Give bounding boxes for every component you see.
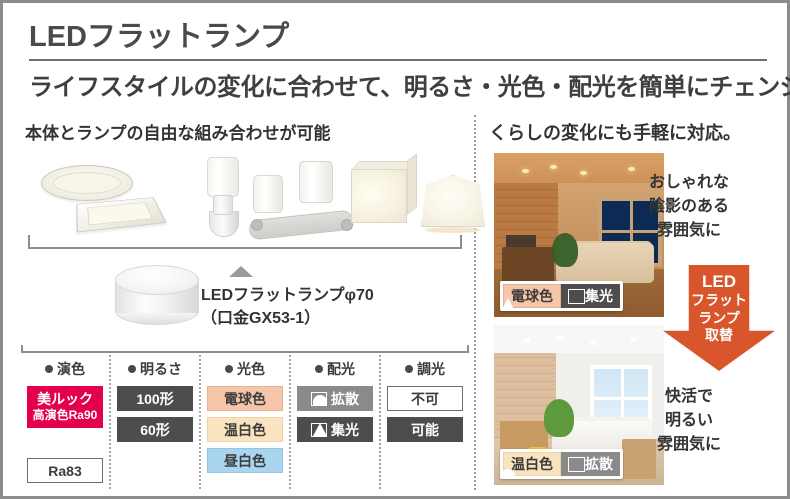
right-section-heading: くらしの変化にも手軽に対応。 [489,119,741,145]
fixture-group-bracket [28,235,462,249]
spec-table: 演色 美ルック 高演色Ra90 Ra83 明るさ 100形 60形 光色 電球色… [21,355,469,489]
bracket-light-single-icon [197,157,249,237]
badge-distribution-spot: 集光 [561,284,620,308]
infographic-page: LEDフラットランプ ライフスタイルの変化に合わせて、明るさ・光色・配光を簡単に… [0,0,790,499]
flat-lamp-label-line1: LEDフラットランプφ70 [201,284,374,307]
spec-table-top-rule [21,351,469,353]
spec-column-dimming: 調光 不可 可能 [379,355,469,489]
trapezoid-bracket-icon [421,175,485,233]
caption-warm: おしゃれな 陰影のある 雰囲気に [609,171,769,243]
flat-lamp-label-line2: （口金GX53-1） [201,307,374,330]
chip-bilook[interactable]: 美ルック 高演色Ra90 [27,386,103,428]
spot-light-twin-icon [249,175,359,241]
title-divider [29,59,767,61]
lamp-replace-arrow: LED フラット ランプ 取替 [663,265,775,371]
downlight-square-icon [76,197,166,232]
chip-60w[interactable]: 60形 [117,417,193,442]
spot-icon [568,289,585,304]
spec-column-light-color: 光色 電球色 温白色 昼白色 [199,355,289,489]
arrow-label: LED フラット ランプ 取替 [663,271,775,345]
spec-column-header: 明るさ [128,359,182,379]
diffuse-icon [568,457,585,472]
bracket-arrow-icon [229,266,253,277]
bullet-dot-icon [315,365,323,373]
page-title: LEDフラットランプ [29,13,289,55]
spot-icon [311,423,327,437]
chip-diffuse[interactable]: 拡散 [297,386,373,411]
spec-column-header: 演色 [45,359,85,379]
chip-ra83[interactable]: Ra83 [27,458,103,483]
chip-spot[interactable]: 集光 [297,417,373,442]
bullet-dot-icon [405,365,413,373]
spec-column-rendering: 演色 美ルック 高演色Ra90 Ra83 [21,355,109,489]
bullet-dot-icon [45,365,53,373]
chip-dimming-no[interactable]: 不可 [387,386,463,411]
downlight-round-icon [41,165,133,201]
flat-lamp-illustration [115,265,199,327]
bullet-dot-icon [128,365,136,373]
diffuse-icon [311,392,327,406]
flat-lamp-label: LEDフラットランプφ70 （口金GX53-1） [201,284,374,330]
spec-column-header: 調光 [405,359,445,379]
left-section-heading: 本体とランプの自由な組み合わせが可能 [25,119,331,144]
column-divider [474,115,476,490]
chip-bulb-color[interactable]: 電球色 [207,386,283,411]
bullet-dot-icon [225,365,233,373]
chip-warm-white[interactable]: 温白色 [207,417,283,442]
chip-dimming-yes[interactable]: 可能 [387,417,463,442]
cube-bracket-icon [351,161,417,223]
spec-column-brightness: 明るさ 100形 60形 [109,355,199,489]
caption-cool: 快活で 明るい 雰囲気に [609,385,769,457]
fixture-lineup [21,151,469,243]
chip-100w[interactable]: 100形 [117,386,193,411]
chip-daylight-white[interactable]: 昼白色 [207,448,283,473]
spec-column-distribution: 配光 拡散 集光 [289,355,379,489]
page-subtitle: ライフスタイルの変化に合わせて、明るさ・光色・配光を簡単にチェンジ [29,67,790,102]
photo-badge-cool: 温白色 拡散 [500,449,623,479]
spec-column-header: 配光 [315,359,355,379]
spec-column-header: 光色 [225,359,265,379]
photo-badge-warm: 電球色 集光 [500,281,623,311]
